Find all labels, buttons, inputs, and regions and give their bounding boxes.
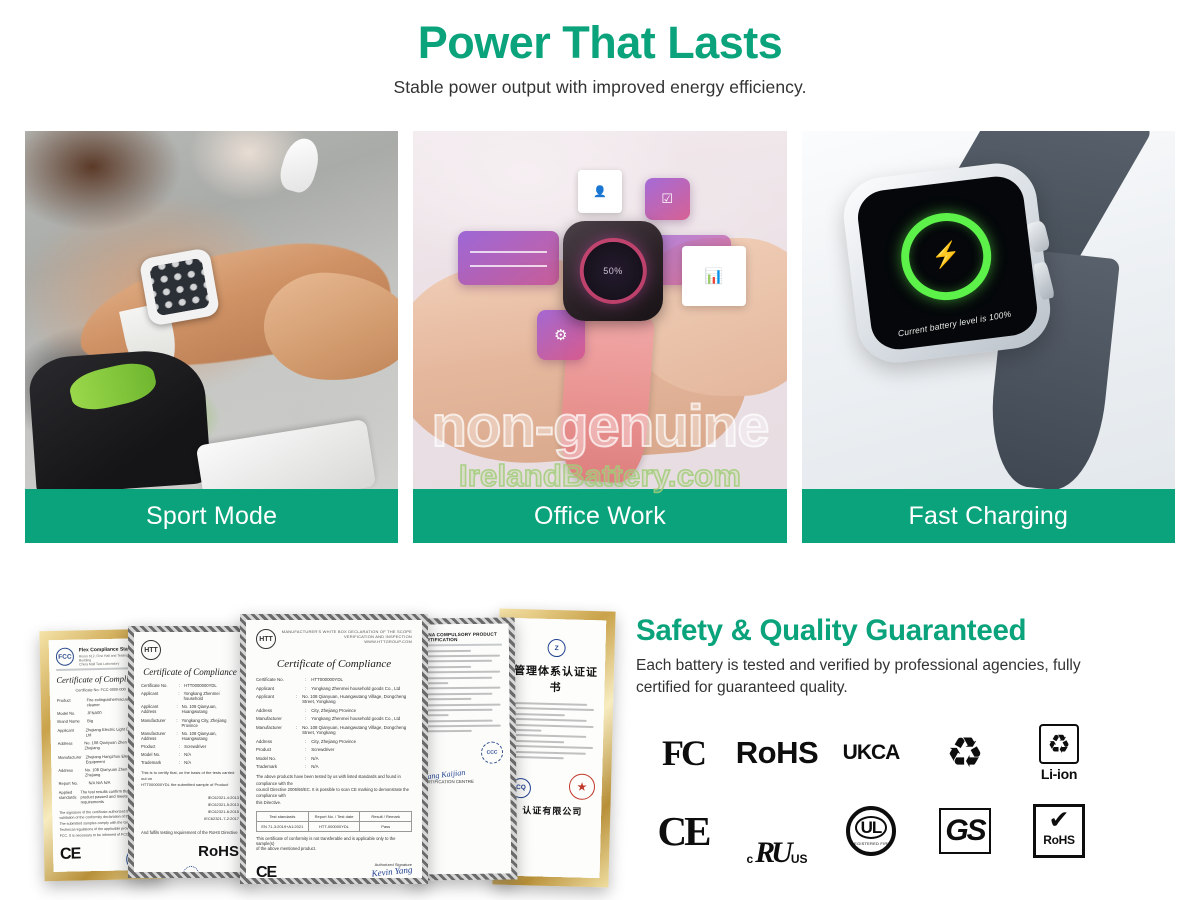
office-work-photo: 50% [413, 131, 786, 489]
product-feature-page: Power That Lasts Stable power output wit… [0, 0, 1200, 900]
fast-charging-photo: ⚡ Current battery level is 100% [802, 131, 1175, 489]
rohs-check-icon: ✔ RoHS [1012, 792, 1106, 870]
ul-label: UL [855, 816, 888, 839]
certificate-htt-rohs: HTT Certificate of Compliance Certificat… [128, 626, 252, 878]
rohs-icon: RoHS [730, 714, 824, 792]
rohs-check-label: RoHS [1043, 833, 1074, 847]
smartwatch-device: ⚡ Current battery level is 100% [840, 159, 1055, 367]
safety-description: Each battery is tested and verified by p… [636, 655, 1106, 699]
battery-level-text: Current battery level is 100% [885, 307, 1025, 341]
red-seal-stamp: ★ [569, 773, 596, 800]
li-ion-label: Li-ion [1041, 766, 1077, 782]
ul-caption: REGISTERED FIRM [851, 841, 891, 846]
ukca-icon: UK CA [824, 714, 918, 792]
smartwatch-device [139, 247, 221, 326]
htt-logo: HTT [256, 629, 276, 649]
ccc-cert-title: CHINA COMPULSORY PRODUCT CERTIFICATION [420, 632, 502, 643]
fcc-icon: FC [636, 714, 730, 792]
li-ion-recycle-glyph: ♻ [1039, 724, 1079, 764]
page-subtitle: Stable power output with improved energy… [0, 77, 1200, 98]
caption-office-work: Office Work [413, 489, 786, 543]
safety-title: Safety & Quality Guaranteed [636, 614, 1176, 648]
htt-logo: HTT [141, 640, 161, 660]
phone-device [196, 419, 376, 489]
ukca-bottom-label: CA [871, 743, 899, 762]
safety-block: Safety & Quality Guaranteed Each battery… [636, 614, 1176, 699]
li-ion-recycle-icon: ♻ Li-ion [1012, 714, 1106, 792]
ul-registered-icon: UL REGISTERED FIRM [824, 792, 918, 870]
feature-card-row: Sport Mode 50% [25, 131, 1175, 543]
rohs-mark: RoHS [141, 843, 239, 860]
htt-rohs-title: Certificate of Compliance [141, 667, 239, 677]
settings-card-icon [458, 231, 559, 285]
feature-card-office-work[interactable]: 50% Office Work [413, 131, 786, 543]
certificate-htt-ce: HTT MANUFACTURER'S WHITE BOX DECLARATION… [240, 614, 428, 884]
ce-mark: CE [256, 864, 276, 882]
culus-c-label: c [746, 852, 753, 866]
culus-ru-label: RU [755, 836, 789, 870]
chart-card-icon [682, 246, 745, 307]
page-title: Power That Lasts [0, 18, 1200, 68]
sport-mode-photo [25, 131, 398, 489]
checkbox-card-icon [645, 178, 690, 221]
certificate-collage: Z 管理体系认证证书 CQ ★ 认证有限公司 [24, 596, 610, 896]
page-header: Power That Lasts Stable power output wit… [0, 0, 1200, 98]
htt-ce-title: Certificate of Compliance [256, 658, 412, 670]
iso-cert-issuer: 认证有限公司 [510, 803, 594, 818]
fcc-logo: FCC [56, 648, 74, 666]
feature-card-fast-charging[interactable]: ⚡ Current battery level is 100% Fast Cha… [802, 131, 1175, 543]
lightning-bolt-icon: ⚡ [930, 243, 963, 270]
checkmark-icon: ✔ [1049, 808, 1070, 833]
ukca-top-label: UK [843, 743, 871, 762]
ce-icon: CΕ [636, 792, 730, 870]
certification-badge-grid: FC RoHS UK CA ♻ ♻ Li-ion CΕ c RU US UL R… [636, 714, 1106, 870]
culus-icon: c RU US [730, 792, 824, 870]
recycle-icon: ♻ [918, 714, 1012, 792]
earbud-icon [276, 135, 323, 196]
gs-icon: GS [918, 792, 1012, 870]
contact-card-icon [578, 170, 623, 213]
watch-screen: ⚡ Current battery level is 100% [855, 174, 1040, 353]
caption-fast-charging: Fast Charging [802, 489, 1175, 543]
feature-card-sport-mode[interactable]: Sport Mode [25, 131, 398, 543]
battery-dial-value: 50% [584, 242, 642, 300]
culus-us-label: US [791, 852, 808, 866]
lower-section: Z 管理体系认证证书 CQ ★ 认证有限公司 [0, 586, 1200, 900]
iso-cert-title: 管理体系认证证书 [513, 662, 598, 696]
smartwatch-device: 50% [563, 221, 664, 321]
caption-sport-mode: Sport Mode [25, 489, 398, 543]
charging-ring-icon: ⚡ [896, 208, 996, 305]
gs-label: GS [939, 808, 991, 854]
